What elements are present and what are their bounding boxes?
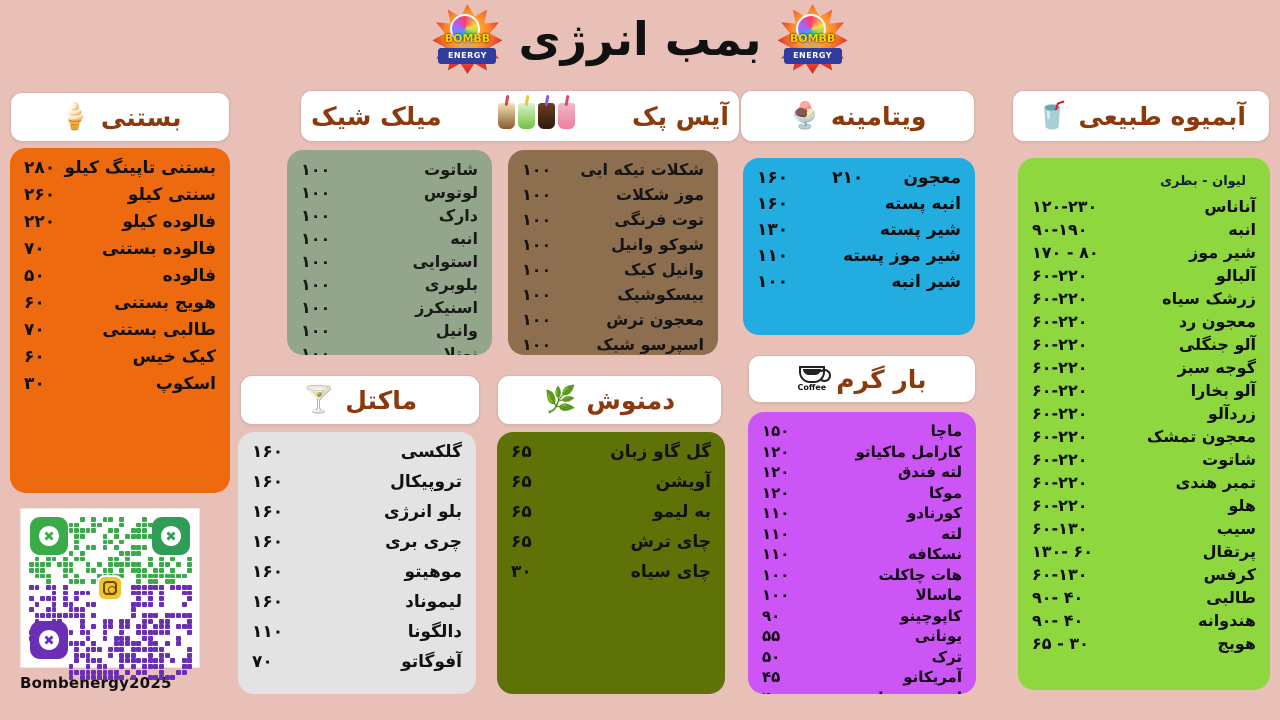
qr-module [119, 619, 124, 624]
qr-module [103, 517, 108, 522]
menu-item-prices: ۱۵۰ [762, 422, 789, 440]
qr-module [40, 562, 45, 567]
qr-module [148, 619, 153, 624]
menu-item-prices: ۶۰-۲۲۰ [1032, 289, 1087, 308]
menu-item-name: گوجه سبز [1178, 358, 1256, 377]
menu-item-price: ۱۰۰ [522, 285, 551, 304]
qr-module [131, 647, 136, 652]
qr-module [91, 579, 96, 584]
qr-module [159, 568, 164, 573]
menu-item-name: هویج [1217, 634, 1256, 653]
qr-module [131, 568, 136, 573]
qr-module [74, 579, 79, 584]
menu-item-price: ۶۰-۲۲۰ [1032, 473, 1087, 492]
qr-module [108, 647, 113, 652]
qr-module [176, 562, 181, 567]
section-panel-juice: لیوان - بطری آناناس۱۲۰-۲۳۰انبه۹۰-۱۹۰شیر … [1018, 158, 1270, 690]
menu-item-price: ۱۵۰ [762, 422, 789, 440]
menu-item-price: ۱۰۰ [301, 298, 330, 317]
menu-item-prices: ۷۰ [252, 652, 273, 672]
qr-module [74, 528, 79, 533]
menu-item-prices: ۴۰ -۹۰ [1032, 611, 1083, 630]
menu-item-prices: ۵۵ [762, 627, 780, 645]
menu-item-price: ۵۰ [24, 266, 45, 286]
qr-module [57, 562, 62, 567]
menu-item-row: شاتوت۱۰۰ [301, 160, 478, 179]
qr-module [91, 670, 96, 675]
qr-module [153, 664, 158, 669]
menu-item-price: ۱۲۰-۲۳۰ [1032, 197, 1097, 216]
menu-item-price: ۱۰۰ [522, 335, 551, 354]
qr-module [148, 557, 153, 562]
qr-module [182, 613, 187, 618]
menu-item-name: موز شکلات [616, 185, 704, 204]
qr-module [182, 585, 187, 590]
section-panel-vitamin: معجون۱۶۰۲۱۰انبه پسته۱۶۰شیر پسته۱۳۰شیر مو… [743, 158, 975, 335]
menu-item-prices: ۵۰ [762, 648, 780, 666]
qr-module [86, 636, 91, 641]
menu-item-prices: ۱۰۰ [522, 310, 551, 329]
qr-module [142, 658, 147, 663]
qr-module [187, 658, 192, 663]
menu-item-row: معجون رد۶۰-۲۲۰ [1032, 312, 1256, 331]
menu-item-row: آمریکانو۴۵ [762, 668, 962, 686]
menu-item-price: ۴۰ [762, 689, 780, 695]
menu-item-price: ۱۲۰ [762, 463, 789, 481]
juice-caption: لیوان - بطری [1032, 174, 1246, 189]
menu-item-row: هات چاکلت۱۰۰ [762, 566, 962, 584]
qr-module [46, 607, 51, 612]
section-title-vitamin: ویتامینه [831, 102, 927, 131]
menu-item-prices: ۴۵ [762, 668, 780, 686]
qr-module [165, 630, 170, 635]
menu-item-prices: ۱۶۰۲۱۰ [757, 168, 863, 188]
logo-word: BOMBB [786, 32, 840, 45]
menu-item-prices: ۶۰-۲۲۰ [1032, 381, 1087, 400]
menu-item-price: ۱۰۰ [522, 210, 551, 229]
qr-module [91, 545, 96, 550]
menu-item-row: بلوبری۱۰۰ [301, 275, 478, 294]
qr-module [97, 523, 102, 528]
qr-module [125, 534, 130, 539]
section-header-vitamin[interactable]: ویتامینه 🍨 [740, 90, 975, 142]
menu-item-row: شیر انبه۱۰۰ [757, 272, 961, 292]
menu-item-row: انبه پسته۱۶۰ [757, 194, 961, 214]
item-list-milkshake: شاتوت۱۰۰لوتوس۱۰۰دارک۱۰۰انبه۱۰۰استوایی۱۰۰… [301, 160, 478, 355]
menu-item-prices: ۶۰-۲۲۰ [1032, 450, 1087, 469]
menu-item-row: نوتلا۱۰۰ [301, 344, 478, 355]
menu-item-price: ۶۰-۲۲۰ [1032, 266, 1087, 285]
menu-item-name: ترک [932, 648, 962, 666]
menu-item-row: ترک۵۰ [762, 648, 962, 666]
qr-module [74, 596, 79, 601]
qr-module [159, 562, 164, 567]
qr-module [136, 596, 141, 601]
qr-module [97, 675, 102, 680]
qr-module [148, 647, 153, 652]
menu-item-row: لوتوس۱۰۰ [301, 183, 478, 202]
menu-item-price: ۱۰۰ [301, 321, 330, 340]
menu-item-prices: ۱۶۰ [757, 194, 788, 214]
menu-item-prices: ۱۶۰ [252, 442, 283, 462]
menu-item-row: اسپرسو دبل۴۰ [762, 689, 962, 695]
menu-item-prices: ۳۰ [511, 562, 532, 582]
qr-module [125, 641, 130, 646]
qr-module [35, 562, 40, 567]
qr-module [148, 585, 153, 590]
qr-module [187, 624, 192, 629]
qr-module [63, 574, 68, 579]
section-header-maktel[interactable]: ماکتل 🍸 [240, 375, 480, 425]
section-title-hotbar: بار گرم [836, 365, 926, 394]
menu-item-price: ۱۰۰ [757, 272, 788, 292]
qr-module [97, 647, 102, 652]
menu-item-row: آفوگاتو۷۰ [252, 652, 462, 672]
qr-module [125, 619, 130, 624]
menu-item-name: انبه [450, 229, 478, 248]
menu-item-name: ماچا [931, 422, 962, 440]
item-list-vitamin: معجون۱۶۰۲۱۰انبه پسته۱۶۰شیر پسته۱۳۰شیر مو… [757, 168, 961, 292]
menu-item-row: شیر موز۸۰ - ۱۷۰ [1032, 243, 1256, 262]
menu-item-price: ۹۰ [762, 607, 780, 625]
menu-item-prices: ۱۲۰ [762, 484, 789, 502]
menu-item-row: کرفس۶۰-۱۳۰ [1032, 565, 1256, 584]
qr-module [80, 551, 85, 556]
qr-module [91, 641, 96, 646]
menu-item-price: ۶۰-۱۳۰ [1032, 519, 1087, 538]
menu-item-row: لیموناد۱۶۰ [252, 592, 462, 612]
menu-item-row: گوجه سبز۶۰-۲۲۰ [1032, 358, 1256, 377]
menu-item-name: فالوده کیلو [122, 212, 216, 232]
qr-module [74, 647, 79, 652]
menu-item-prices: ۱۲۰ [762, 443, 789, 461]
menu-item-row: گلکسی۱۶۰ [252, 442, 462, 462]
menu-item-row: بستنی تاپینگ کیلو۲۸۰ [24, 158, 216, 178]
qr-module [80, 641, 85, 646]
menu-item-price: ۷۰ [24, 320, 45, 340]
qr-module [86, 562, 91, 567]
qr-module [170, 613, 175, 618]
qr-module [125, 557, 130, 562]
qr-module [159, 670, 164, 675]
item-list-bastani: بستنی تاپینگ کیلو۲۸۰سنتی کیلو۲۶۰فالوده ک… [24, 158, 216, 394]
menu-item-price: ۱۰۰ [301, 344, 330, 355]
section-panel-maktel: گلکسی۱۶۰تروپیکال۱۶۰بلو انرژی۱۶۰چری بری۱۶… [238, 432, 476, 694]
qr-module [165, 675, 170, 680]
menu-item-name: معجون رد [1179, 312, 1256, 331]
menu-item-prices: ۱۰۰ [301, 252, 330, 271]
qr-module [187, 562, 192, 567]
qr-module [187, 568, 192, 573]
section-title-juice: آبمیوه طبیعی [1078, 102, 1245, 131]
menu-item-prices: ۶۰-۱۳۰ [1032, 565, 1087, 584]
menu-item-name: سنتی کیلو [128, 185, 216, 205]
menu-item-name: موکا [929, 484, 962, 502]
menu-item-prices: ۲۲۰ [24, 212, 55, 232]
section-header-milkshake-icepack[interactable]: آیس پک میلک شیک [300, 90, 740, 142]
menu-item-row: ماچا۱۵۰ [762, 422, 962, 440]
qr-module [131, 653, 136, 658]
qr-module [103, 630, 108, 635]
qr-module [125, 562, 130, 567]
menu-item-row: طالبی۴۰ -۹۰ [1032, 588, 1256, 607]
qr-module [108, 528, 113, 533]
menu-item-price: ۷۰ [252, 652, 273, 672]
item-list-maktel: گلکسی۱۶۰تروپیکال۱۶۰بلو انرژی۱۶۰چری بری۱۶… [252, 442, 462, 672]
menu-item-prices: ۱۰۰ [301, 229, 330, 248]
qr-module [136, 591, 141, 596]
qr-module [108, 653, 113, 658]
qr-module [170, 574, 175, 579]
menu-item-row: شکلات تیکه ایی۱۰۰ [522, 160, 704, 179]
qr-module [136, 624, 141, 629]
menu-item-row: آویشن۶۵ [511, 472, 711, 492]
menu-item-name: یونانی [915, 627, 962, 645]
qr-module [52, 557, 57, 562]
menu-item-row: بلو انرژی۱۶۰ [252, 502, 462, 522]
qr-module [165, 619, 170, 624]
menu-item-price: ۴۰ -۹۰ [1032, 611, 1083, 630]
qr-module [114, 675, 119, 680]
qr-module [108, 540, 113, 545]
menu-item-name: لته فندق [898, 463, 962, 481]
qr-module [69, 641, 74, 646]
menu-item-price: ۱۳۰ [757, 220, 788, 240]
menu-item-price: ۶۰-۲۲۰ [1032, 335, 1087, 354]
qr-module [187, 630, 192, 635]
qr-module [52, 607, 57, 612]
menu-item-price: ۱۶۰ [252, 532, 283, 552]
qr-module [153, 647, 158, 652]
qr-module [91, 675, 96, 680]
menu-item-price: ۱۰۰ [762, 566, 789, 584]
menu-item-name: توت فرنگی [614, 210, 704, 229]
qr-module [69, 630, 74, 635]
qr-module [91, 517, 96, 522]
menu-item-row: کورنادو۱۱۰ [762, 504, 962, 522]
qr-module [159, 585, 164, 590]
qr-module [108, 619, 113, 624]
menu-item-price: ۱۶۰ [252, 472, 283, 492]
menu-item-row: پرتقال۶۰ -۱۳۰ [1032, 542, 1256, 561]
menu-item-price: ۱۲۰ [762, 484, 789, 502]
menu-item-name: کیک خیس [133, 347, 216, 367]
qr-module [80, 517, 85, 522]
qr-module [91, 568, 96, 573]
menu-item-row: شیر موز پسته۱۱۰ [757, 246, 961, 266]
menu-item-name: ماسالا [916, 586, 962, 604]
qr-module [142, 591, 147, 596]
qr-module [40, 596, 45, 601]
menu-item-price: ۱۱۰ [762, 504, 789, 522]
qr-module [148, 658, 153, 663]
qr-module [153, 574, 158, 579]
qr-module [74, 653, 79, 658]
menu-item-prices: ۶۵ [511, 532, 532, 552]
qr-module [46, 562, 51, 567]
menu-item-prices: ۹۰ [762, 607, 780, 625]
menu-item-price: ۱۱۰ [757, 246, 788, 266]
menu-item-row: لته۱۱۰ [762, 525, 962, 543]
section-header-juice[interactable]: آبمیوه طبیعی 🥤 [1012, 90, 1270, 142]
menu-item-price: ۶۰-۲۲۰ [1032, 496, 1087, 515]
menu-item-name: هلو [1228, 496, 1256, 515]
qr-module [142, 647, 147, 652]
qr-module [52, 591, 57, 596]
qr-module [29, 585, 34, 590]
menu-item-price: ۱۲۰ [762, 443, 789, 461]
qr-module [131, 545, 136, 550]
qr-module [136, 523, 141, 528]
qr-module [46, 613, 51, 618]
menu-item-prices: ۶۰-۲۲۰ [1032, 266, 1087, 285]
menu-item-row: آناناس۱۲۰-۲۳۰ [1032, 197, 1256, 216]
qr-module [159, 653, 164, 658]
menu-item-row: اسپرسو شیک۱۰۰ [522, 335, 704, 354]
menu-item-price: ۱۶۰ [252, 442, 283, 462]
menu-item-name: انبه پسته [885, 194, 961, 214]
menu-item-price: ۱۱۰ [762, 525, 789, 543]
menu-item-row: هندوانه۴۰ -۹۰ [1032, 611, 1256, 630]
qr-module [125, 670, 130, 675]
menu-item-name: زردآلو [1208, 404, 1256, 423]
qr-module [159, 630, 164, 635]
qr-module [74, 591, 79, 596]
qr-module [91, 528, 96, 533]
qr-module [182, 670, 187, 675]
qr-module [131, 591, 136, 596]
qr-module [86, 630, 91, 635]
menu-item-row: هویج بستنی۶۰ [24, 293, 216, 313]
menu-item-prices: ۱۳۰ [757, 220, 788, 240]
menu-item-name: معجون [903, 168, 961, 188]
menu-item-name: فالوده [163, 266, 216, 286]
menu-item-prices: ۹۰-۱۹۰ [1032, 220, 1087, 239]
qr-module [159, 596, 164, 601]
qr-module [182, 664, 187, 669]
menu-item-name: آمریکانو [903, 668, 962, 686]
qr-module [142, 545, 147, 550]
qr-module [74, 641, 79, 646]
qr-module [182, 624, 187, 629]
qr-module [69, 602, 74, 607]
qr-module [187, 596, 192, 601]
menu-item-prices: ۷۰ [24, 239, 45, 259]
qr-module [86, 568, 91, 573]
qr-module [148, 641, 153, 646]
menu-item-name: زرشک سیاه [1162, 289, 1256, 308]
menu-item-price: ۱۰۰ [522, 160, 551, 179]
section-header-hotbar[interactable]: بار گرم Coffee [748, 355, 976, 403]
qr-module [148, 596, 153, 601]
menu-item-row: توت فرنگی۱۰۰ [522, 210, 704, 229]
menu-item-row: سنتی کیلو۲۶۰ [24, 185, 216, 205]
qr-module [125, 636, 130, 641]
menu-item-price: ۶۵ [511, 532, 532, 552]
qr-module [29, 596, 34, 601]
menu-item-price: ۱۰۰ [522, 260, 551, 279]
qr-card[interactable]: Bombenergy2025 [20, 508, 200, 698]
qr-module [182, 658, 187, 663]
qr-module [159, 624, 164, 629]
qr-module [176, 574, 181, 579]
qr-module [187, 647, 192, 652]
menu-item-price: ۱۰۰ [301, 252, 330, 271]
menu-item-prices: ۶۰-۲۲۰ [1032, 335, 1087, 354]
qr-module [148, 613, 153, 618]
menu-item-name: هویج بستنی [114, 293, 216, 313]
qr-module [136, 528, 141, 533]
menu-item-name: تروپیکال [390, 472, 462, 492]
menu-item-row: دارک۱۰۰ [301, 206, 478, 225]
qr-module [136, 579, 141, 584]
menu-item-price: ۴۰ -۹۰ [1032, 588, 1083, 607]
qr-module [165, 624, 170, 629]
menu-item-name: کورنادو [907, 504, 962, 522]
qr-module [131, 664, 136, 669]
menu-item-row: اسکوپ۳۰ [24, 374, 216, 394]
qr-module [182, 591, 187, 596]
qr-module [119, 658, 124, 663]
qr-module [103, 619, 108, 624]
menu-item-price: ۶۵ [511, 472, 532, 492]
menu-item-row: آلبالو۶۰-۲۲۰ [1032, 266, 1256, 285]
qr-module [86, 602, 91, 607]
qr-module [182, 602, 187, 607]
qr-module [187, 613, 192, 618]
menu-item-price: ۷۰ [24, 239, 45, 259]
logo-band: ENERGY [784, 48, 842, 64]
menu-item-row: هویج۳۰ - ۶۵ [1032, 634, 1256, 653]
menu-item-price: ۱۶۰ [252, 502, 283, 522]
menu-item-name: شاتوت [424, 160, 478, 179]
qr-module [187, 653, 192, 658]
section-header-damnoosh[interactable]: دمنوش 🌿 [497, 375, 722, 425]
qr-module [131, 534, 136, 539]
menu-item-prices: ۱۲۰-۲۳۰ [1032, 197, 1097, 216]
menu-item-row: لته فندق۱۲۰ [762, 463, 962, 481]
section-header-bastani[interactable]: بستنی 🍦 [10, 92, 230, 142]
qr-module [114, 636, 119, 641]
boba-drinks-icon [498, 103, 575, 129]
menu-item-price: ۱۰۰ [301, 206, 330, 225]
section-title-milkshake: میلک شیک [311, 102, 442, 131]
qr-module [148, 579, 153, 584]
menu-item-prices: ۶۰-۲۲۰ [1032, 358, 1087, 377]
menu-item-name: اسپرسو دبل [871, 689, 962, 695]
menu-item-prices: ۱۰۰ [301, 344, 330, 355]
menu-item-name: موهیتو [404, 562, 462, 582]
qr-code-image[interactable] [20, 508, 200, 668]
qr-module [29, 562, 34, 567]
qr-module [131, 675, 136, 680]
menu-item-price: ۱۶۰ [757, 194, 788, 214]
menu-item-row: وانیل۱۰۰ [301, 321, 478, 340]
qr-module [119, 653, 124, 658]
menu-item-prices: ۱۰۰ [757, 272, 788, 292]
menu-item-name: هات چاکلت [879, 566, 963, 584]
menu-item-price: ۱۰۰ [762, 586, 789, 604]
qr-module [159, 619, 164, 624]
qr-module [142, 517, 147, 522]
menu-item-price: ۳۰ [511, 562, 532, 582]
menu-item-name: لوتوس [424, 183, 478, 202]
qr-module [108, 675, 113, 680]
menu-item-prices: ۱۰۰ [762, 566, 789, 584]
qr-module [142, 630, 147, 635]
menu-item-row: زرشک سیاه۶۰-۲۲۰ [1032, 289, 1256, 308]
qr-module [136, 551, 141, 556]
